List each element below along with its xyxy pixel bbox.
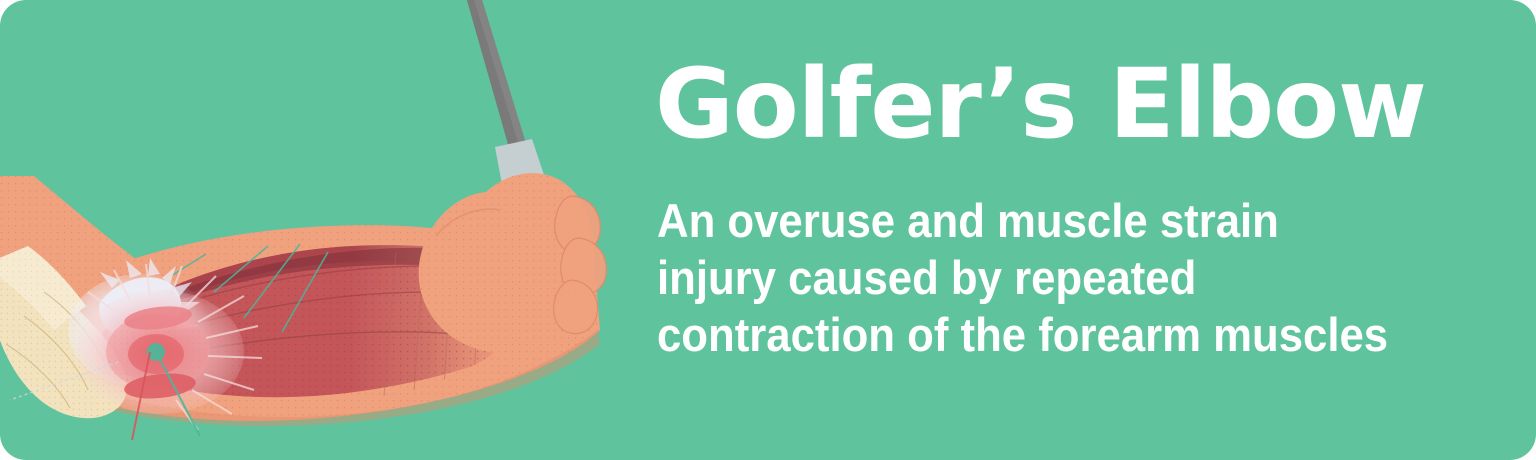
banner-text-block: Golfer’s Elbow An overuse and muscle str…	[655, 0, 1515, 460]
golf-club-shaft-icon	[464, 0, 528, 155]
fist-gripping-club-shape	[419, 173, 607, 354]
description-line-1: An overuse and muscle strain	[657, 192, 1388, 249]
description-line-3: contraction of the forearm muscles	[657, 306, 1388, 363]
golfers-elbow-anatomy-illustration	[0, 0, 640, 460]
description-line-2: injury caused by repeated	[657, 249, 1388, 306]
banner-description: An overuse and muscle strain injury caus…	[657, 192, 1388, 363]
golfers-elbow-banner: Golfer’s Elbow An overuse and muscle str…	[0, 0, 1536, 460]
page-title: Golfer’s Elbow	[655, 56, 1426, 152]
